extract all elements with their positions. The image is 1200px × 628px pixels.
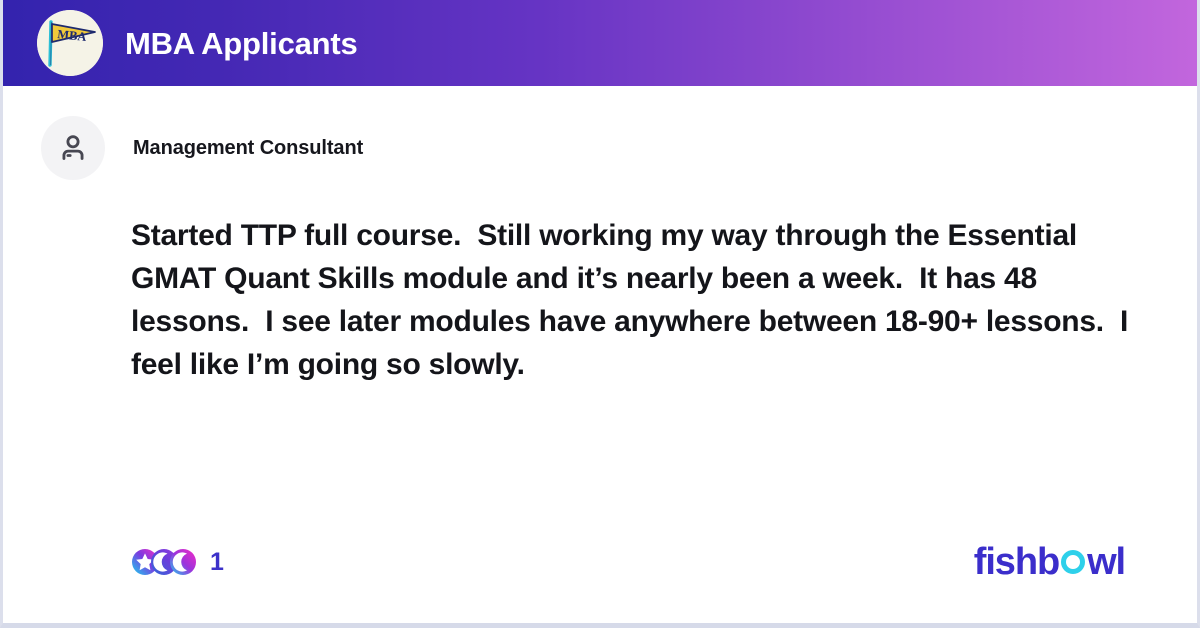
post-body-area: Management Consultant Started TTP full c… [3,86,1197,386]
fishbowl-logo-part2: wl [1087,543,1125,581]
post-text: Started TTP full course. Still working m… [131,214,1151,386]
fishbowl-logo: fishbwl [974,543,1125,581]
bowl-title: MBA Applicants [125,28,358,59]
post-card: MBA MBA Applicants Management Consultant… [0,0,1200,628]
bowl-header: MBA MBA Applicants [3,0,1197,86]
fishbowl-o-icon [1061,550,1085,574]
swirl-reaction-icon[interactable] [169,548,197,576]
reaction-icons[interactable] [131,548,188,576]
fishbowl-logo-part1: fishb [974,543,1059,581]
person-icon [56,131,90,165]
mba-pennant-icon: MBA [37,10,103,76]
avatar [41,116,105,180]
reaction-count: 1 [210,550,224,575]
post-author-title: Management Consultant [133,137,363,160]
post-footer: 1 fishbwl [3,539,1197,585]
reactions-group[interactable]: 1 [131,548,224,576]
post-author-row[interactable]: Management Consultant [3,86,1197,180]
